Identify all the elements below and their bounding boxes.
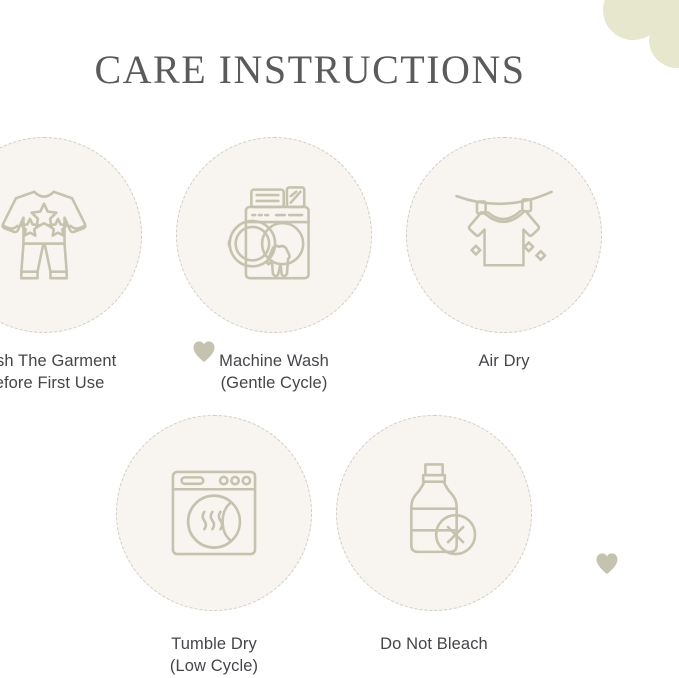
care-item-wash-before-first-use[interactable]: Wash The Garment Before First Use [0, 137, 154, 395]
care-item-label: Machine Wash (Gentle Cycle) [219, 350, 329, 395]
care-item-tumble-dry[interactable]: Tumble Dry (Low Cycle) [104, 415, 324, 678]
care-item-label: Do Not Bleach [380, 633, 488, 655]
care-item-do-not-bleach[interactable]: Do Not Bleach [324, 415, 544, 655]
care-item-machine-wash[interactable]: Machine Wash (Gentle Cycle) [164, 137, 384, 395]
care-items-row-bottom: Tumble Dry (Low Cycle) Do Not Bleach [104, 415, 564, 678]
clothesline-tshirt-icon [450, 181, 558, 289]
tumble-dryer-icon [160, 459, 268, 567]
icon-circle [116, 415, 312, 611]
icon-circle [176, 137, 372, 333]
page-title: CARE INSTRUCTIONS [0, 46, 620, 93]
care-items-row-top: Wash The Garment Before First Use [0, 137, 679, 395]
care-item-label: Wash The Garment Before First Use [0, 350, 116, 395]
pajamas-star-icon [0, 181, 98, 289]
icon-circle [0, 137, 142, 333]
care-item-air-dry[interactable]: Air Dry [394, 137, 614, 372]
heart-decoration-right [595, 552, 619, 576]
care-item-label: Tumble Dry (Low Cycle) [170, 633, 258, 678]
icon-circle [406, 137, 602, 333]
no-bleach-bottle-icon [380, 459, 488, 567]
icon-circle [336, 415, 532, 611]
care-item-label: Air Dry [478, 350, 529, 372]
washing-machine-icon [220, 181, 328, 289]
